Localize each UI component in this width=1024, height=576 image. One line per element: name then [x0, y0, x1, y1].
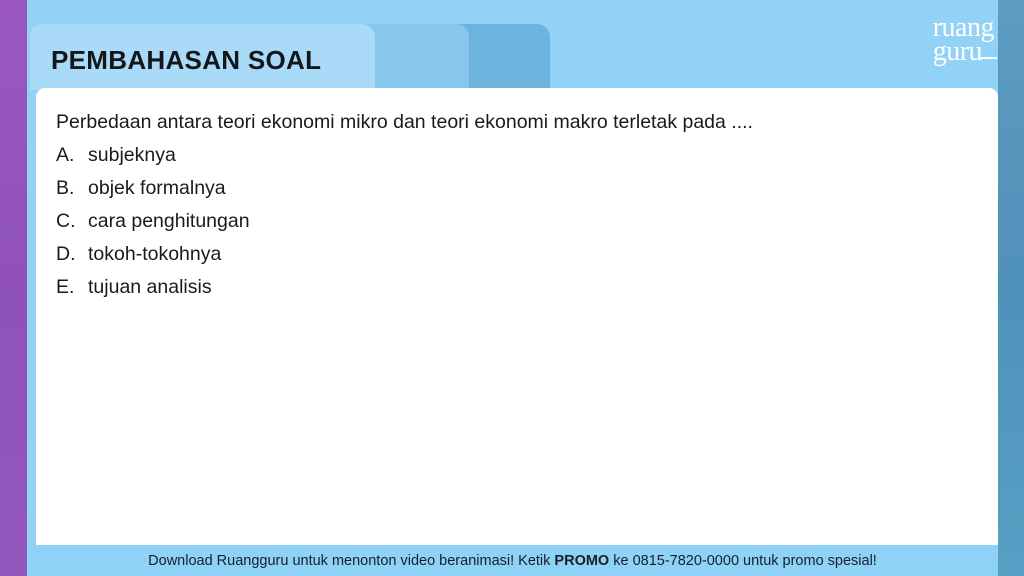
- question-text: Perbedaan antara teori ekonomi mikro dan…: [56, 108, 886, 137]
- promo-keyword: PROMO: [554, 553, 609, 569]
- header-tab-group: PEMBAHASAN SOAL: [30, 24, 550, 90]
- option-a-label: subjeknya: [88, 144, 656, 167]
- option-e-letter: E.: [56, 276, 88, 299]
- logo-line-two: guru: [933, 40, 994, 64]
- option-e-label: tujuan analisis: [88, 276, 656, 299]
- option-b-letter: B.: [56, 177, 88, 200]
- option-e[interactable]: E. tujuan analisis: [56, 276, 656, 309]
- option-b[interactable]: B. objek formalnya: [56, 177, 656, 210]
- promo-footer-text: Download Ruangguru untuk menonton video …: [148, 553, 877, 569]
- slide-root: PEMBAHASAN SOAL ruang guru Perbedaan ant…: [0, 0, 1024, 576]
- option-c[interactable]: C. cara penghitungan: [56, 210, 656, 243]
- tab-title-label: PEMBAHASAN SOAL: [51, 45, 321, 76]
- option-d[interactable]: D. tokoh-tokohnya: [56, 243, 656, 276]
- left-edge-band: [0, 0, 27, 576]
- option-b-label: objek formalnya: [88, 177, 656, 200]
- option-d-label: tokoh-tokohnya: [88, 243, 656, 266]
- promo-text-after: ke 0815-7820-0000 untuk promo spesial!: [609, 553, 877, 569]
- option-c-label: cara penghitungan: [88, 210, 656, 233]
- ruangguru-logo: ruang guru: [933, 16, 994, 63]
- promo-footer-bar: Download Ruangguru untuk menonton video …: [27, 545, 998, 576]
- option-d-letter: D.: [56, 243, 88, 266]
- option-c-letter: C.: [56, 210, 88, 233]
- question-card: Perbedaan antara teori ekonomi mikro dan…: [36, 88, 998, 545]
- promo-text-before: Download Ruangguru untuk menonton video …: [148, 553, 554, 569]
- option-a-letter: A.: [56, 144, 88, 167]
- right-edge-band: [998, 0, 1024, 576]
- tab-pembahasan-soal[interactable]: PEMBAHASAN SOAL: [30, 24, 375, 90]
- option-a[interactable]: A. subjeknya: [56, 144, 656, 177]
- answer-options-list: A. subjeknya B. objek formalnya C. cara …: [56, 144, 656, 309]
